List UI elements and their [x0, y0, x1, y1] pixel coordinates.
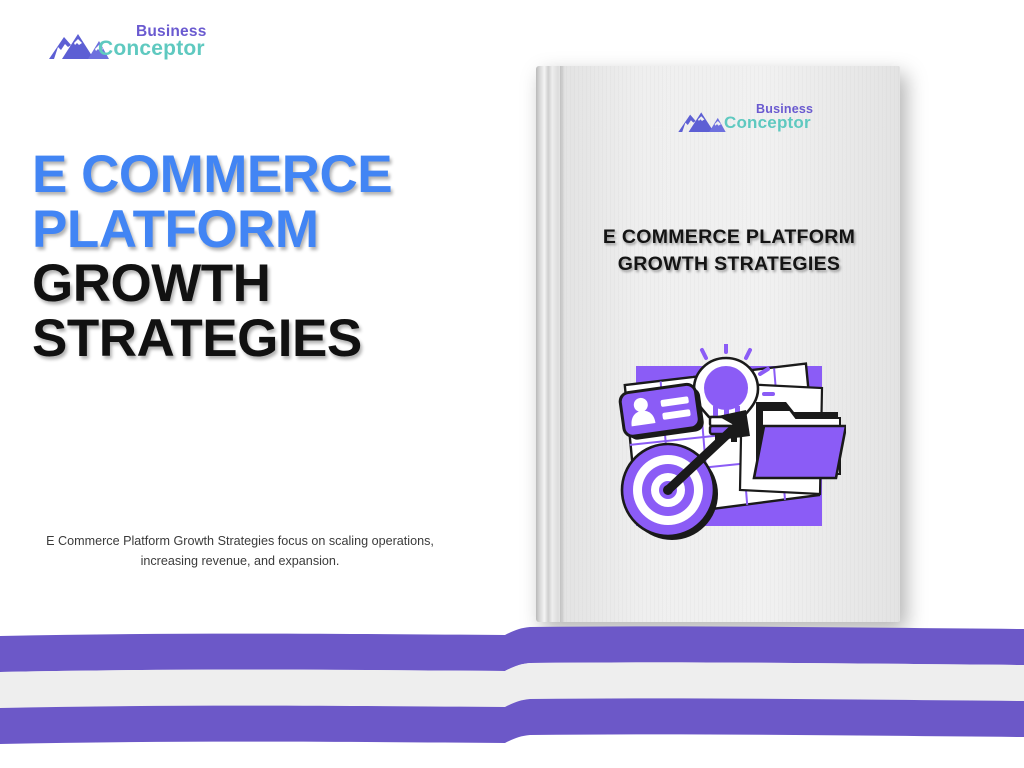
slide-canvas: Business Conceptor E COMMERCE PLATFORM G…	[0, 0, 1024, 768]
brand-logo-book: Business Conceptor	[676, 102, 836, 140]
book-title: E COMMERCE PLATFORM GROWTH STRATEGIES	[558, 224, 900, 277]
brand-word-conceptor: Conceptor	[724, 113, 811, 133]
brand-wordmark: Business Conceptor	[718, 102, 888, 146]
folder-icon	[754, 402, 846, 478]
bottom-wave-decoration	[0, 608, 1024, 768]
book-title-line-1: E COMMERCE PLATFORM	[558, 224, 900, 251]
ecommerce-growth-illustration	[614, 344, 846, 552]
brand-logo-header: Business Conceptor	[48, 22, 258, 68]
subtitle-text: E Commerce Platform Growth Strategies fo…	[30, 532, 450, 571]
book-spine	[536, 66, 558, 622]
title-line-4: STRATEGIES	[32, 312, 462, 367]
brand-word-conceptor: Conceptor	[98, 37, 205, 61]
title-line-2: PLATFORM	[32, 203, 462, 258]
title-line-3: GROWTH	[32, 257, 462, 312]
book-title-line-2: GROWTH STRATEGIES	[558, 251, 900, 278]
book-inner-edge	[560, 66, 565, 622]
brand-wordmark: Business Conceptor	[90, 22, 260, 66]
book-mockup: Business Conceptor E COMMERCE PLATFORM G…	[536, 66, 900, 622]
page-title: E COMMERCE PLATFORM GROWTH STRATEGIES	[32, 148, 462, 366]
title-line-1: E COMMERCE	[32, 148, 462, 203]
